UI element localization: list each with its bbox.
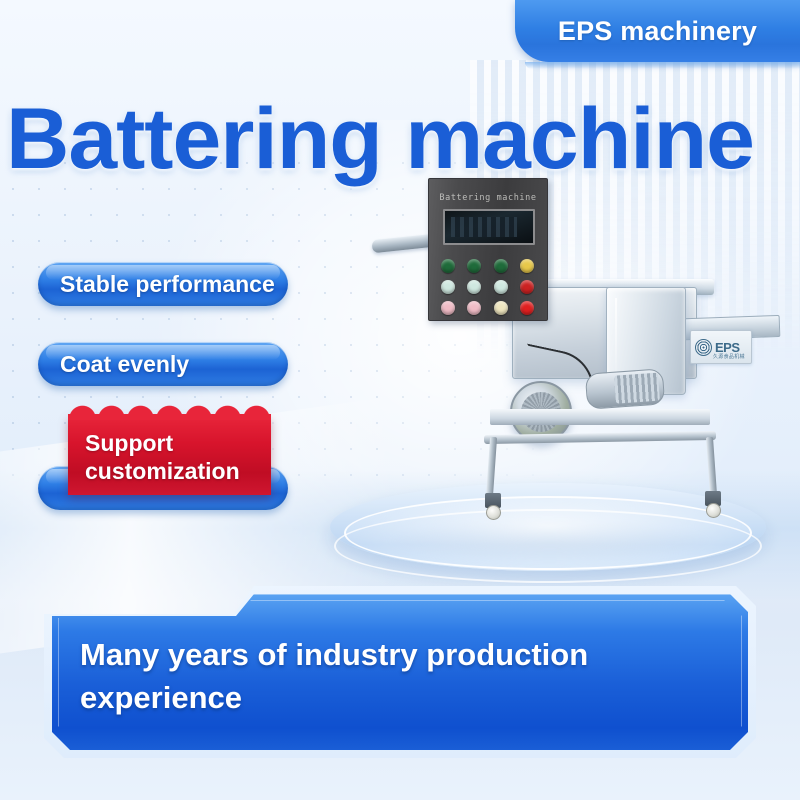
machine-leg-left: [486, 437, 497, 497]
control-panel-button-5: [441, 280, 455, 294]
support-customization-badge[interactable]: Support customization: [68, 405, 271, 495]
caster-wheel-icon: [486, 505, 501, 520]
machine-base-plate: [490, 409, 710, 425]
eps-emblem-icon: [695, 339, 712, 356]
bottom-banner: Many years of industry production experi…: [44, 586, 756, 758]
feature-pill-2[interactable]: Coat evenly: [38, 342, 288, 386]
control-panel-button-6: [467, 280, 481, 294]
control-panel-button-9: [441, 301, 455, 315]
product-image-battering-machine: EPS 久源食品机械 Battering machine: [372, 175, 782, 570]
machine-gearmotor: [585, 368, 665, 409]
feature-pill-1-label: Stable performance: [38, 271, 275, 298]
badge-line-2: customization: [85, 457, 265, 485]
poster-canvas: EPS machinery Battering machine EPS 久源食品…: [0, 0, 800, 800]
machine-inlet-arm: [371, 234, 434, 253]
control-panel-button-8: [520, 280, 534, 294]
feature-pill-2-label: Coat evenly: [38, 351, 189, 378]
control-panel-button-10: [467, 301, 481, 315]
control-panel-button-12: [520, 301, 534, 315]
page-title: Battering machine: [6, 96, 800, 182]
badge-line-1: Support: [85, 429, 265, 457]
machine-leg-right: [706, 437, 717, 495]
machine-caster-right: [702, 491, 724, 519]
control-panel-button-3: [494, 259, 508, 273]
feature-pill-1[interactable]: Stable performance: [38, 262, 288, 306]
control-panel-label: Battering machine: [429, 193, 547, 203]
machine-caster-left: [482, 493, 504, 521]
badge-scallop-edge-icon: [68, 405, 271, 419]
badge-text: Support customization: [85, 429, 265, 485]
control-panel-button-2: [467, 259, 481, 273]
control-panel-display: [443, 209, 535, 245]
caster-wheel-icon: [706, 503, 721, 518]
eps-logo-text: EPS: [715, 341, 740, 354]
control-panel-button-grid: [441, 259, 537, 315]
banner-text: Many years of industry production experi…: [80, 634, 710, 720]
control-panel-button-1: [441, 259, 455, 273]
control-panel-button-4: [520, 259, 534, 273]
machine-brand-plate: EPS 久源食品机械: [690, 330, 752, 364]
control-panel-button-11: [494, 301, 508, 315]
eps-logo-subtext: 久源食品机械: [713, 353, 745, 360]
header-bar: EPS machinery: [515, 0, 800, 62]
header-title: EPS machinery: [558, 16, 757, 47]
control-panel-button-7: [494, 280, 508, 294]
machine-control-panel: Battering machine: [428, 178, 548, 321]
